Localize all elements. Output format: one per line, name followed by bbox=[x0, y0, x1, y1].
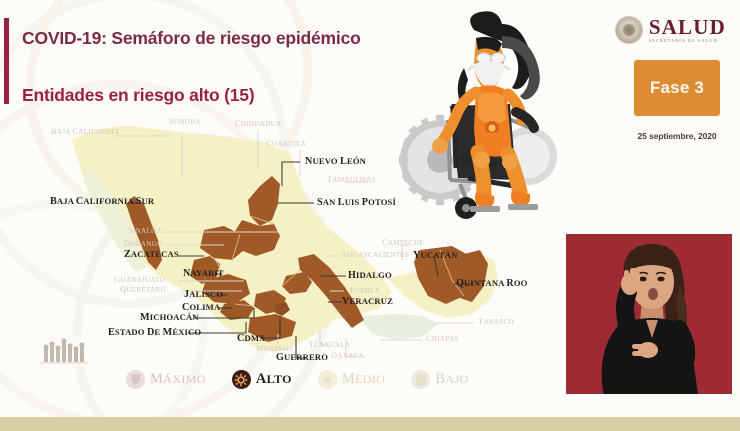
blob-icon bbox=[411, 370, 430, 389]
map-label-chihuahua: CHIHUAHUA bbox=[235, 120, 282, 128]
legend-label-maximo: MÁXIMO bbox=[150, 371, 206, 388]
slide-title: COVID-19: Semáforo de riesgo epidémico bbox=[22, 28, 361, 49]
salud-logo: SALUD SECRETARÍA DE SALUD bbox=[615, 16, 726, 44]
map-container: BAJA CALIFORNIA SONORA CHIHUAHUA COAHUIL… bbox=[28, 108, 568, 370]
sign-language-interpreter-panel bbox=[566, 234, 732, 394]
map-label-queretaro: QUERÉTARO bbox=[120, 286, 166, 294]
map-label-chiapas: CHIAPAS bbox=[426, 335, 459, 343]
map-label-tabasco: TABASCO bbox=[478, 318, 514, 326]
phase-date: 25 septiembre, 2020 bbox=[634, 131, 720, 141]
map-label-baja-california: BAJA CALIFORNIA bbox=[51, 128, 119, 136]
legend-item-medio[interactable]: MEDIO bbox=[318, 370, 385, 389]
gear-icon bbox=[232, 370, 251, 389]
legend-item-bajo[interactable]: BAJO bbox=[411, 370, 468, 389]
legend-item-alto[interactable]: ALTO bbox=[232, 370, 292, 389]
legend-item-maximo[interactable]: MÁXIMO bbox=[126, 370, 206, 389]
map-label-yucatan: YUCATÁN bbox=[413, 251, 458, 261]
shield-icon bbox=[126, 370, 145, 389]
map-label-veracruz: VERACRUZ bbox=[342, 297, 393, 307]
map-label-san-luis-potosi: SAN LUIS POTOSÍ bbox=[317, 198, 396, 208]
legend-label-alto: ALTO bbox=[256, 371, 292, 388]
map-label-puebla: PUEBLA bbox=[350, 287, 380, 295]
map-label-campeche: CAMPECHE bbox=[382, 239, 424, 247]
map-label-jalisco: JALISCO bbox=[184, 290, 223, 300]
map-label-hidalgo: HIDALGO bbox=[348, 271, 392, 281]
map-label-quintana-roo: QUINTANA ROO bbox=[456, 279, 528, 289]
gobierno-emblem bbox=[36, 336, 94, 366]
bottom-strip bbox=[0, 417, 740, 431]
slide-subtitle: Entidades en riesgo alto (15) bbox=[22, 85, 254, 106]
map-label-estado-de-mexico: ESTADO DE MÉXICO bbox=[108, 328, 201, 338]
map-label-oaxaca: OAXACA bbox=[331, 352, 364, 360]
map-label-sonora: SONORA bbox=[169, 118, 201, 126]
map-label-cdmx: CDMX bbox=[237, 334, 265, 344]
star-icon bbox=[318, 370, 337, 389]
phase-badge: Fase 3 bbox=[634, 60, 720, 116]
map-label-baja-california-sur: BAJA CALIFORNIA SUR bbox=[50, 197, 154, 207]
phase-label: Fase 3 bbox=[650, 78, 704, 98]
map-label-tamaulipas: TAMAULIPAS bbox=[327, 176, 376, 184]
map-label-guerrero: GUERRERO bbox=[276, 353, 328, 363]
map-label-aguascalientes: AGUASCALIENTES bbox=[341, 251, 409, 259]
interpreter-video bbox=[566, 234, 732, 394]
map-label-durango: DURANGO bbox=[124, 240, 163, 248]
title-accent-bar bbox=[4, 18, 9, 104]
map-label-michoacan: MICHOACÁN bbox=[140, 313, 199, 323]
national-seal-icon bbox=[615, 16, 643, 44]
map-label-guanajuato: GUANAJUATO bbox=[114, 276, 165, 284]
legend-label-bajo: BAJO bbox=[435, 371, 468, 388]
presentation-slide: COVID-19: Semáforo de riesgo epidémico E… bbox=[0, 0, 740, 431]
legend-label-medio: MEDIO bbox=[342, 371, 385, 388]
map-label-coahuila: COAHUILA bbox=[266, 140, 306, 148]
map-label-nuevo-leon: NUEVO LEÓN bbox=[305, 157, 366, 167]
map-label-tlaxcala: TLAXCALA bbox=[309, 341, 350, 349]
salud-wordmark: SALUD bbox=[649, 17, 726, 38]
map-label-nayarit: NAYARIT bbox=[183, 269, 224, 279]
map-label-zacatecas: ZACATECAS bbox=[124, 250, 179, 260]
map-label-sinaloa: SINALOA bbox=[128, 227, 162, 235]
risk-legend: MÁXIMO ALTO bbox=[126, 370, 469, 389]
salud-tagline: SECRETARÍA DE SALUD bbox=[649, 39, 726, 43]
